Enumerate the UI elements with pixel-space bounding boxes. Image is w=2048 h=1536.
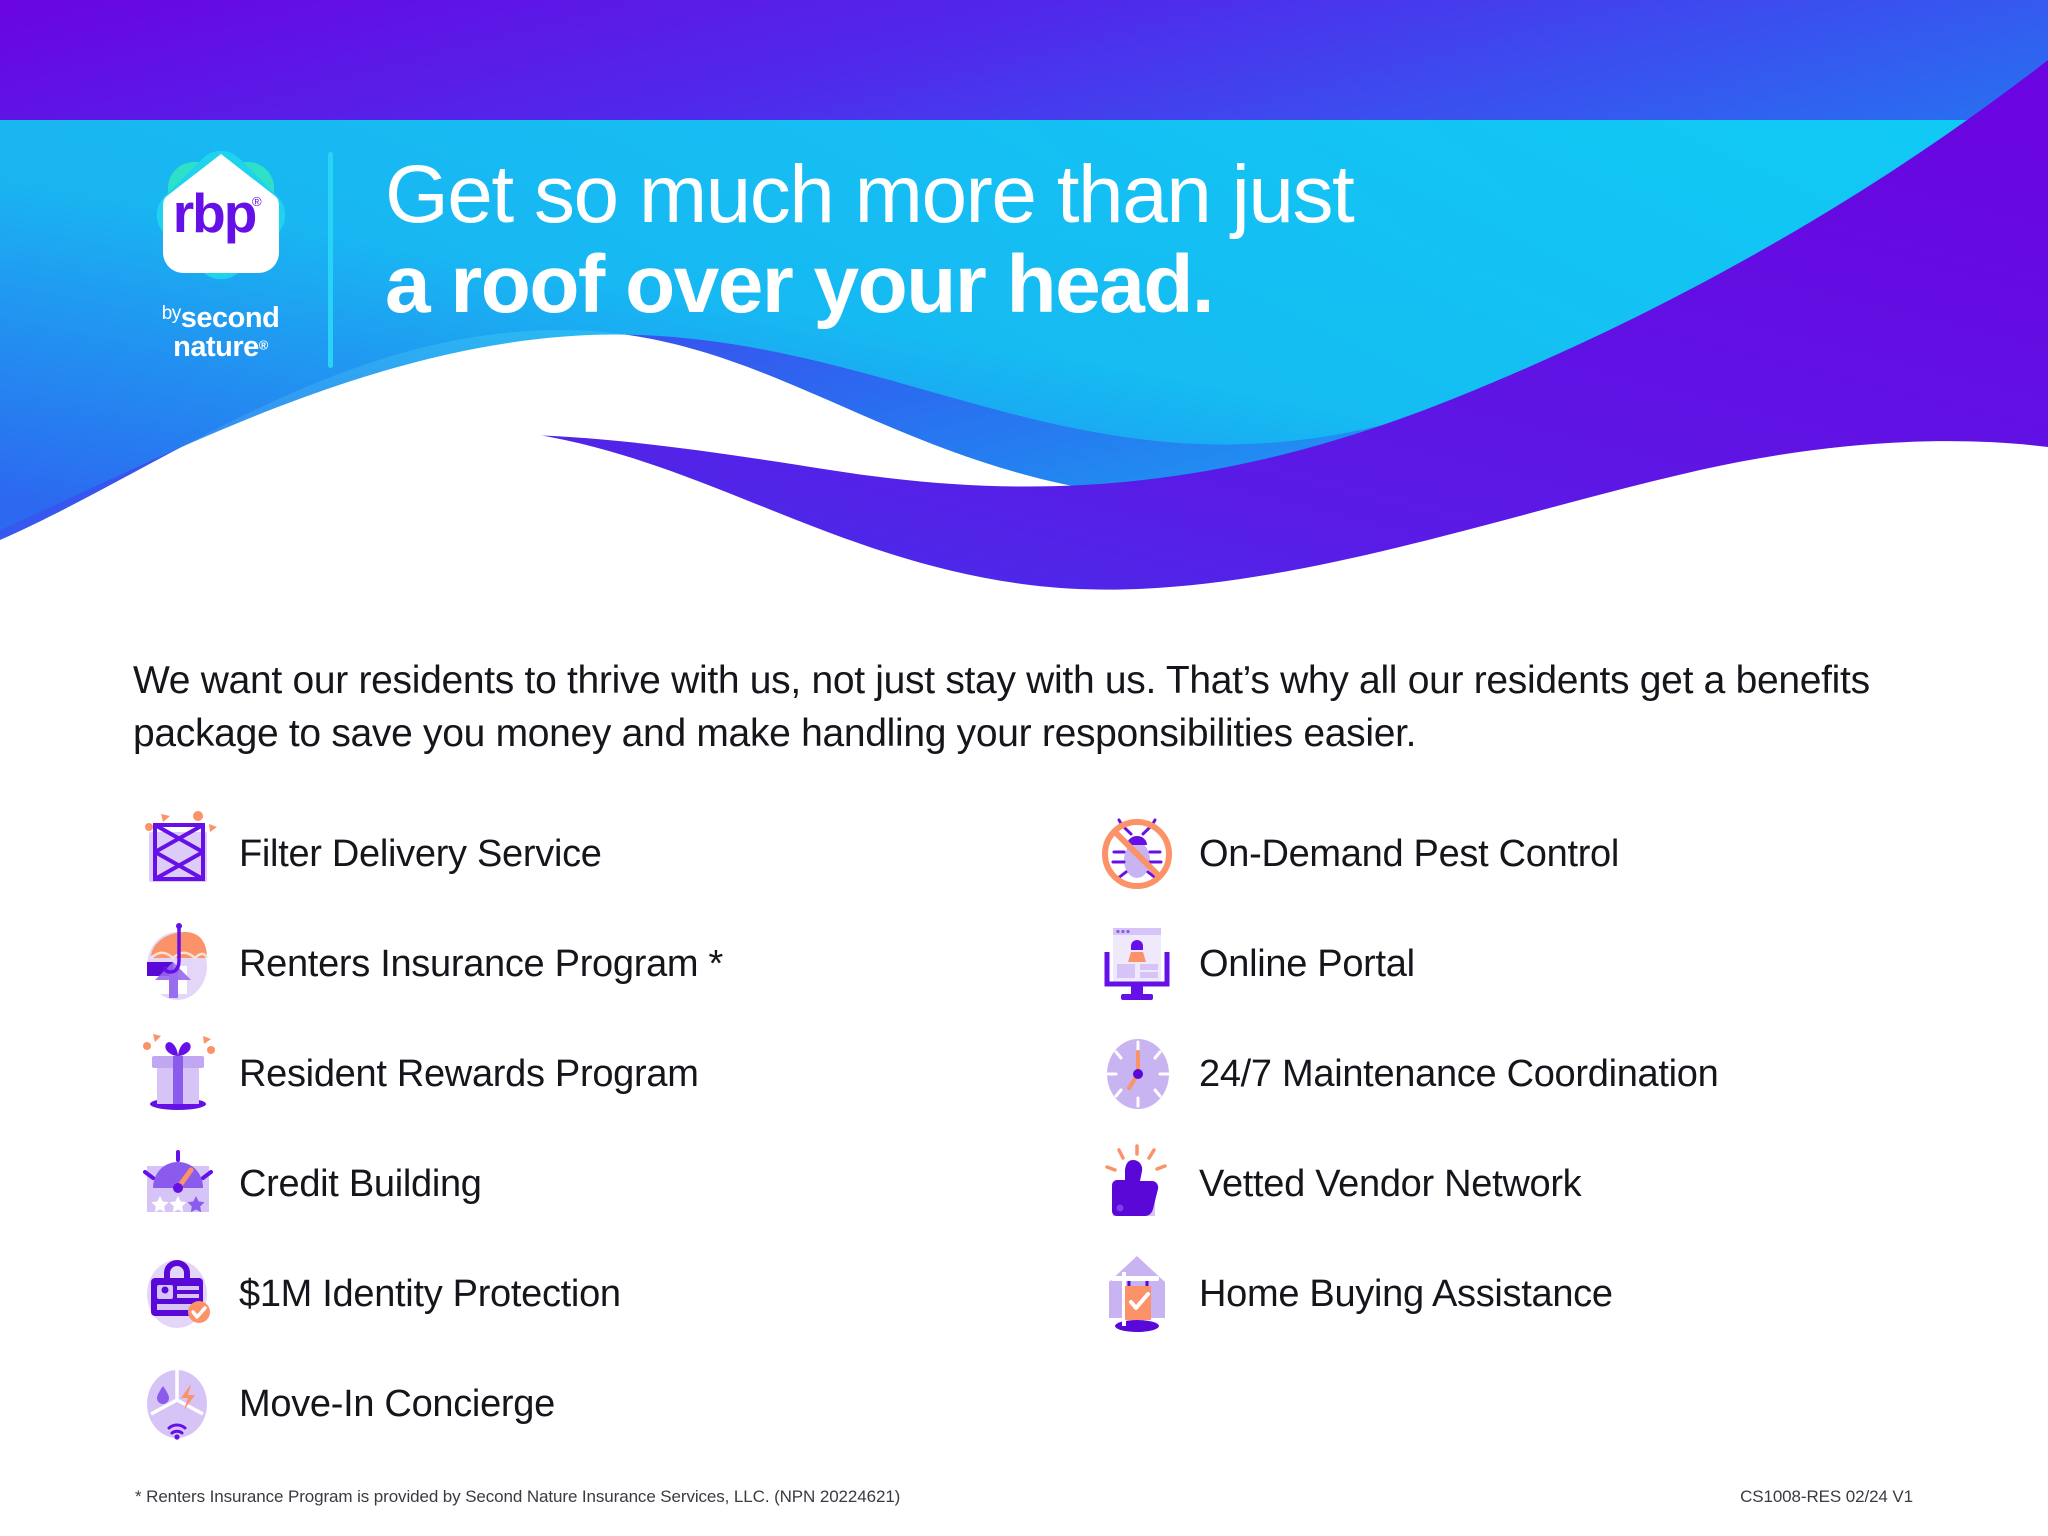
benefit-label: Home Buying Assistance	[1199, 1273, 1613, 1316]
hero-divider	[328, 152, 333, 368]
gift-box-icon	[133, 1028, 225, 1120]
umbrella-house-icon	[133, 918, 225, 1010]
benefit-label: On-Demand Pest Control	[1199, 833, 1619, 876]
credit-gauge-stars-icon	[133, 1138, 225, 1230]
clock-icon	[1093, 1028, 1185, 1120]
rbp-logo-icon: rbp ®	[146, 140, 296, 290]
brand-lockup: rbp ® bysecond nature®	[128, 140, 313, 362]
page-title: Get so much more than just a roof over y…	[385, 152, 1353, 331]
benefit-item-vendor-network[interactable]: Vetted Vendor Network	[1093, 1130, 1933, 1238]
benefit-item-move-in-concierge[interactable]: Move-In Concierge	[133, 1350, 1033, 1458]
benefit-item-identity-protection[interactable]: $1M Identity Protection	[133, 1240, 1033, 1348]
house-sign-check-icon	[1093, 1248, 1185, 1340]
brand-by-text: by	[162, 303, 181, 324]
benefit-label: Vetted Vendor Network	[1199, 1163, 1581, 1206]
benefit-item-resident-rewards[interactable]: Resident Rewards Program	[133, 1020, 1033, 1128]
footer-disclaimer: * Renters Insurance Program is provided …	[135, 1487, 900, 1507]
benefits-column-right: On-Demand Pest Control	[1093, 800, 1933, 1350]
benefit-label: Credit Building	[239, 1163, 482, 1206]
benefit-label: Online Portal	[1199, 943, 1415, 986]
brand-registered-mark: ®	[259, 338, 268, 353]
brand-sub-label: bysecond nature®	[162, 304, 280, 362]
intro-paragraph: We want our residents to thrive with us,…	[133, 655, 1903, 760]
hero-banner: rbp ® bysecond nature® Get so much more …	[0, 0, 2048, 600]
benefit-label: Renters Insurance Program *	[239, 943, 723, 986]
brand-name-line1: second	[181, 302, 280, 334]
benefit-item-maintenance[interactable]: 24/7 Maintenance Coordination	[1093, 1020, 1933, 1128]
air-filter-icon	[133, 808, 225, 900]
footer-doc-code: CS1008-RES 02/24 V1	[1740, 1487, 1913, 1507]
desktop-monitor-icon	[1093, 918, 1185, 1010]
benefit-item-credit-building[interactable]: Credit Building	[133, 1130, 1033, 1238]
benefit-label: $1M Identity Protection	[239, 1273, 621, 1316]
benefit-label: Resident Rewards Program	[239, 1053, 699, 1096]
brand-name-line2: nature	[173, 331, 259, 363]
benefits-column-left: Filter Delivery Service Renter	[133, 800, 1033, 1460]
benefit-label: Filter Delivery Service	[239, 833, 602, 876]
benefit-item-home-buying[interactable]: Home Buying Assistance	[1093, 1240, 1933, 1348]
id-badge-lock-icon	[133, 1248, 225, 1340]
utilities-water-power-wifi-icon	[133, 1358, 225, 1450]
benefit-item-renters-insurance[interactable]: Renters Insurance Program *	[133, 910, 1033, 1018]
benefit-label: Move-In Concierge	[239, 1383, 555, 1426]
no-bug-icon	[1093, 808, 1185, 900]
svg-text:rbp: rbp	[172, 182, 255, 244]
benefit-item-pest-control[interactable]: On-Demand Pest Control	[1093, 800, 1933, 908]
thumbs-up-icon	[1093, 1138, 1185, 1230]
headline-line-1: Get so much more than just	[385, 152, 1353, 239]
headline-line-2: a roof over your head.	[385, 239, 1353, 331]
benefit-item-filter-delivery[interactable]: Filter Delivery Service	[133, 800, 1033, 908]
benefit-item-online-portal[interactable]: Online Portal	[1093, 910, 1933, 1018]
benefit-label: 24/7 Maintenance Coordination	[1199, 1053, 1718, 1096]
svg-text:®: ®	[252, 194, 262, 209]
